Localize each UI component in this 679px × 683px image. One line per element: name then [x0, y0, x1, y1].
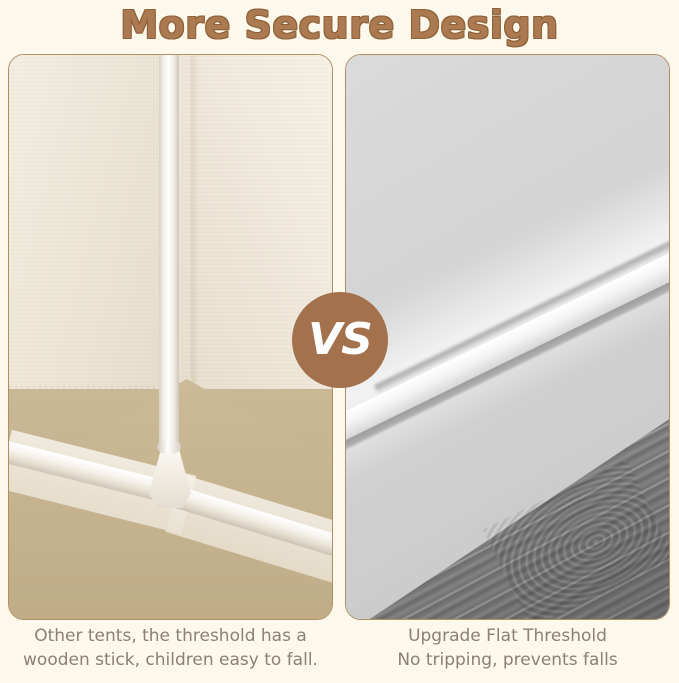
caption-right-line-2: No tripping, prevents falls — [345, 648, 670, 672]
caption-left-line-2: wooden stick, children easy to fall. — [8, 648, 333, 672]
page-title: More Secure Design — [120, 4, 558, 46]
tent-corner-photo — [9, 55, 332, 619]
caption-right-line-1: Upgrade Flat Threshold — [345, 624, 670, 648]
vertical-pole-cap — [157, 440, 181, 454]
vertical-tent-pole — [159, 54, 179, 453]
comparison-captions: Other tents, the threshold has a wooden … — [8, 624, 671, 683]
vs-badge-label: VS — [308, 318, 372, 362]
vs-badge: VS — [292, 292, 388, 388]
caption-right: Upgrade Flat Threshold No tripping, prev… — [345, 624, 670, 683]
caption-left: Other tents, the threshold has a wooden … — [8, 624, 333, 683]
flat-threshold-photo — [346, 55, 669, 619]
comparison-panel-left[interactable] — [8, 54, 333, 620]
caption-left-line-1: Other tents, the threshold has a — [8, 624, 333, 648]
comparison-panel-right[interactable] — [345, 54, 670, 620]
page-title-bar: More Secure Design — [0, 0, 679, 50]
